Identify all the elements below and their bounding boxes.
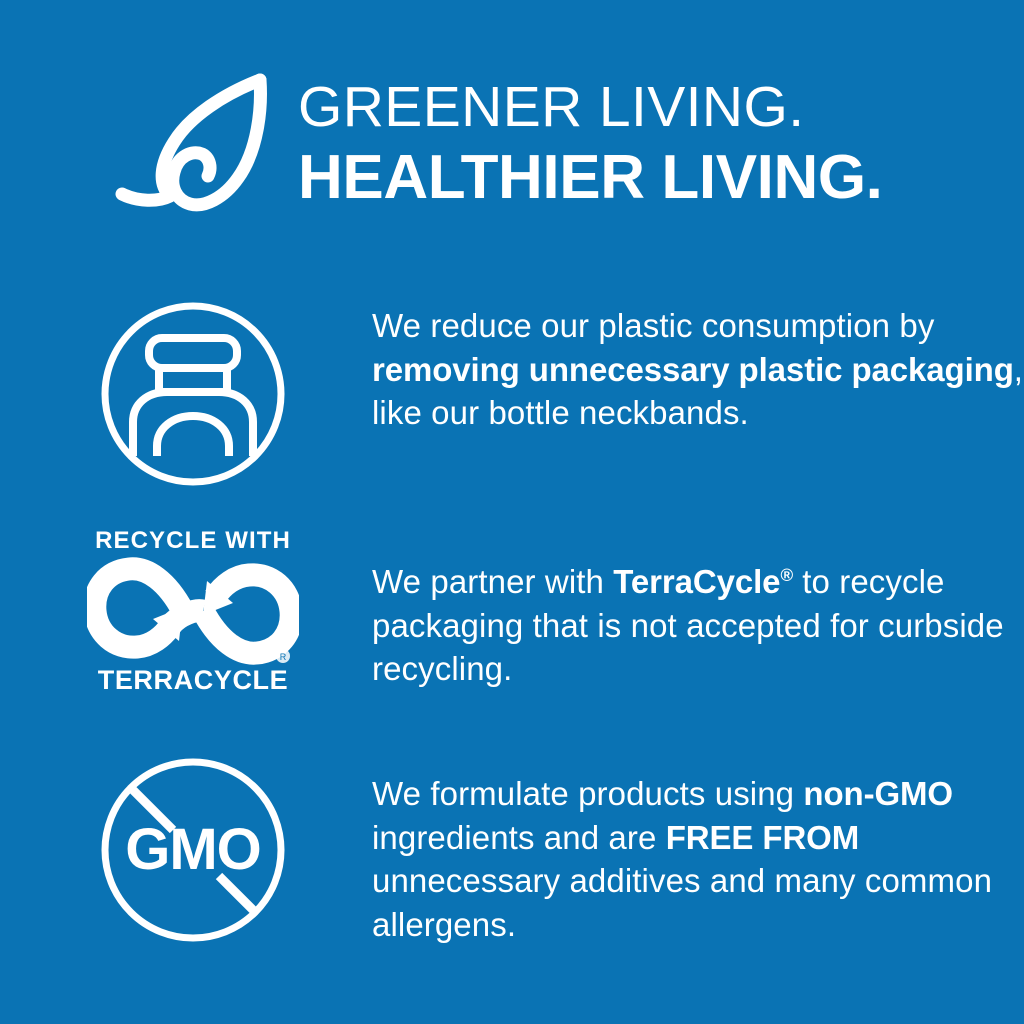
header-banner: GREENER LIVING. HEALTHIER LIVING.: [0, 0, 1024, 250]
bottle-neckband-circle-icon: [95, 296, 291, 497]
benefit-icon-slot: GMO: [0, 752, 372, 953]
benefit-text-non-gmo: We formulate products using non-GMO ingr…: [372, 760, 1024, 946]
text-segment-bold: non-GMO: [803, 775, 953, 812]
gmo-label-text: GMO: [125, 817, 261, 882]
text-segment: We partner with: [372, 563, 613, 600]
benefit-text-terracycle: We partner with TerraCycle® to recycle p…: [372, 536, 1024, 691]
benefit-row-terracycle: RECYCLE WITH R TERRACYCLE: [0, 528, 1024, 723]
header-title-group: GREENER LIVING. HEALTHIER LIVING.: [298, 74, 998, 214]
benefit-text-slot: We reduce our plastic consumption by rem…: [372, 296, 1024, 435]
text-segment: unnecessary additives and many common al…: [372, 862, 992, 943]
benefit-text-slot: We partner with TerraCycle® to recycle p…: [372, 528, 1024, 691]
registered-trademark-symbol: ®: [780, 565, 793, 585]
infinity-recycle-arrows-icon: R: [87, 557, 299, 665]
no-gmo-icon: GMO: [95, 752, 291, 953]
terracycle-logo: RECYCLE WITH R TERRACYCLE: [87, 528, 299, 694]
terracycle-bottom-label: TERRACYCLE: [87, 666, 299, 694]
terracycle-top-label: RECYCLE WITH: [87, 528, 299, 554]
page-title-line-2: HEALTHIER LIVING.: [298, 142, 998, 214]
benefit-row-plastic-reduction: We reduce our plastic consumption by rem…: [0, 296, 1024, 496]
page-title-line-1: GREENER LIVING.: [298, 74, 998, 140]
registered-mark-glyph: R: [280, 652, 287, 662]
text-segment: ingredients and are: [372, 819, 666, 856]
text-segment: We formulate products using: [372, 775, 803, 812]
benefit-row-non-gmo: GMO We formulate products using non-GMO …: [0, 752, 1024, 962]
text-segment-bold: removing unnecessary plastic packaging: [372, 351, 1014, 388]
benefit-text-plastic-reduction: We reduce our plastic consumption by rem…: [372, 304, 1024, 435]
text-segment-bold: TerraCycle®: [613, 563, 793, 600]
text-segment-bold: FREE FROM: [666, 819, 859, 856]
benefit-icon-slot: [0, 296, 372, 497]
benefit-icon-slot: RECYCLE WITH R TERRACYCLE: [0, 528, 372, 694]
benefit-text-slot: We formulate products using non-GMO ingr…: [372, 752, 1024, 946]
text-segment: We reduce our plastic consumption by: [372, 307, 934, 344]
leaf-icon: [112, 68, 282, 228]
brand-name: TerraCycle: [613, 563, 780, 600]
